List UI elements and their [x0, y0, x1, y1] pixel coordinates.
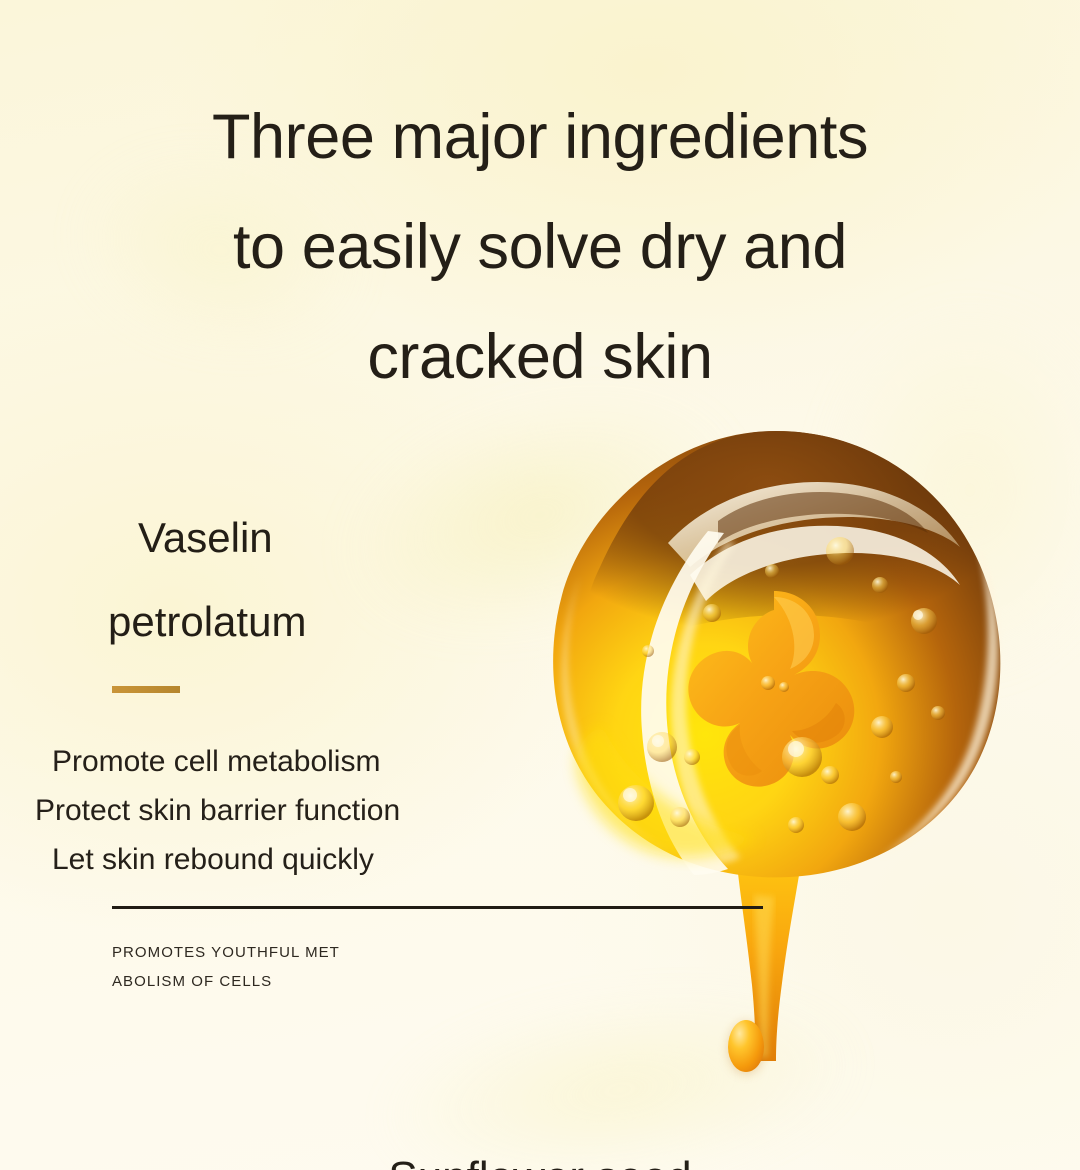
benefit-item-3: Let skin rebound quickly — [0, 835, 560, 884]
gold-accent-divider — [112, 686, 180, 693]
poster-canvas: Three major ingredients to easily solve … — [0, 0, 1080, 1170]
benefits-list: Promote cell metabolism Protect skin bar… — [0, 737, 560, 884]
honey-droplet — [728, 1020, 764, 1072]
headline-line-3: cracked skin — [0, 302, 1080, 412]
benefit-item-2: Protect skin barrier function — [0, 786, 560, 835]
headline-line-1: Three major ingredients — [0, 82, 1080, 192]
honey-gel-drop-image — [540, 425, 1010, 1065]
bottom-cutoff-text: Sunflower seed — [0, 1156, 1080, 1170]
headline: Three major ingredients to easily solve … — [0, 82, 1080, 412]
headline-line-2: to easily solve dry and — [0, 192, 1080, 302]
ingredient-name: Vaselin petrolatum — [0, 496, 560, 664]
ingredient-info-block: Vaselin petrolatum Promote cell metaboli… — [0, 496, 560, 884]
caption-block: PROMOTES YOUTHFUL MET ABOLISM OF CELLS — [112, 938, 532, 996]
ingredient-name-line-1: Vaselin — [0, 496, 560, 580]
caption-line-1: PROMOTES YOUTHFUL MET — [112, 938, 532, 967]
benefit-item-1: Promote cell metabolism — [0, 737, 560, 786]
caption-line-2: ABOLISM OF CELLS — [112, 967, 532, 996]
ingredient-name-line-2: petrolatum — [0, 580, 560, 664]
section-divider — [112, 906, 763, 909]
